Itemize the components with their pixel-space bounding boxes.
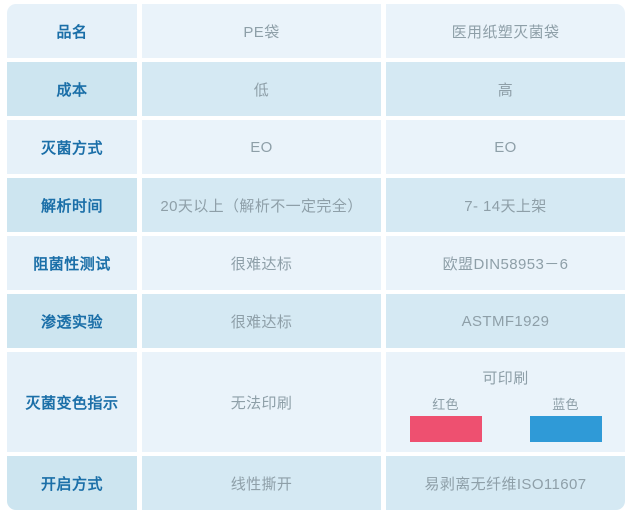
table-row: 成本 低 高 — [7, 62, 625, 116]
color-swatch-blue: 蓝色 — [530, 394, 602, 442]
row-value-pe-shentoushiyan: 很难达标 — [142, 294, 381, 348]
color-swatch-red-chip — [410, 416, 482, 442]
row-value-med-jiexishijian: 7- 14天上架 — [386, 178, 625, 232]
row-label-zujunxingceshi: 阻菌性测试 — [7, 236, 137, 290]
row-label-kaiqifangshi: 开启方式 — [7, 456, 137, 510]
color-swatch-red: 红色 — [410, 394, 482, 442]
row-value-med-pinming: 医用纸塑灭菌袋 — [386, 4, 625, 58]
row-value-pe-jiexishijian: 20天以上（解析不一定完全） — [142, 178, 381, 232]
color-swatch-red-label: 红色 — [432, 394, 459, 413]
row-label-shentoushiyan: 渗透实验 — [7, 294, 137, 348]
row-value-pe-miejunbiansezhishi: 无法印刷 — [142, 352, 381, 452]
row-value-med-chengben: 高 — [386, 62, 625, 116]
row-value-pe-zujunxingceshi: 很难达标 — [142, 236, 381, 290]
row-value-pe-kaiqifangshi: 线性撕开 — [142, 456, 381, 510]
row-value-med-shentoushiyan: ASTMF1929 — [386, 294, 625, 348]
printable-title: 可印刷 — [482, 367, 528, 388]
color-swatch-blue-label: 蓝色 — [552, 394, 579, 413]
color-swatch-group: 红色 蓝色 — [410, 394, 602, 442]
table-row: 灭菌变色指示 无法印刷 可印刷 红色 蓝色 — [7, 352, 625, 452]
table-row: 解析时间 20天以上（解析不一定完全） 7- 14天上架 — [7, 178, 625, 232]
table-row: 阻菌性测试 很难达标 欧盟DIN58953－6 — [7, 236, 625, 290]
row-value-med-kaiqifangshi: 易剥离无纤维ISO11607 — [386, 456, 625, 510]
table-row: 品名 PE袋 医用纸塑灭菌袋 — [7, 4, 625, 58]
table-row: 灭菌方式 EO EO — [7, 120, 625, 174]
row-value-pe-pinming: PE袋 — [142, 4, 381, 58]
row-label-pinming: 品名 — [7, 4, 137, 58]
row-value-med-miejunfangshi: EO — [386, 120, 625, 174]
row-value-med-miejunbiansezhishi: 可印刷 红色 蓝色 — [386, 352, 625, 452]
table-row: 开启方式 线性撕开 易剥离无纤维ISO11607 — [7, 456, 625, 510]
row-value-pe-chengben: 低 — [142, 62, 381, 116]
table-row: 渗透实验 很难达标 ASTMF1929 — [7, 294, 625, 348]
row-value-pe-miejunfangshi: EO — [142, 120, 381, 174]
row-label-chengben: 成本 — [7, 62, 137, 116]
row-label-jiexishijian: 解析时间 — [7, 178, 137, 232]
row-value-med-zujunxingceshi: 欧盟DIN58953－6 — [386, 236, 625, 290]
row-label-miejunbiansezhishi: 灭菌变色指示 — [7, 352, 137, 452]
color-swatch-blue-chip — [530, 416, 602, 442]
comparison-table: 品名 PE袋 医用纸塑灭菌袋 成本 低 高 灭菌方式 EO EO 解析时间 20… — [0, 0, 631, 499]
row-label-miejunfangshi: 灭菌方式 — [7, 120, 137, 174]
